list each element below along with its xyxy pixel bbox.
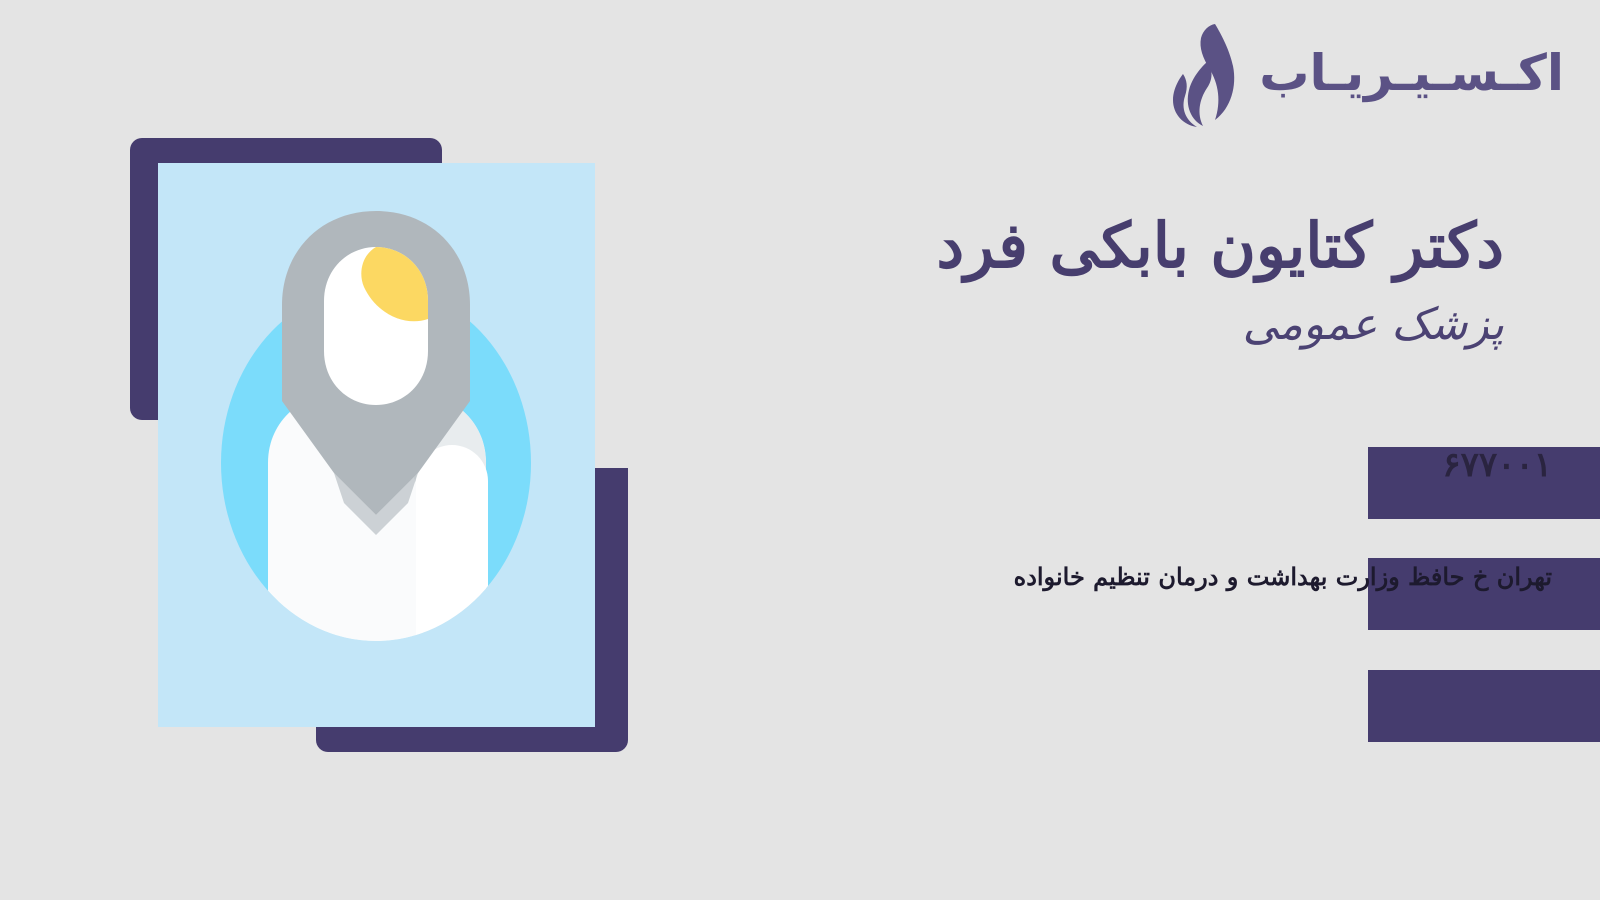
- avatar: [158, 163, 595, 727]
- doctor-info-block: دکتر کتایون بابکی فرد پزشک عمومی: [744, 210, 1504, 352]
- brand-name-label: اکـسـیـریـاب: [1259, 48, 1564, 104]
- doctor-name: دکتر کتایون بابکی فرد: [744, 210, 1504, 281]
- flame-icon: [1157, 22, 1245, 130]
- profile-card-canvas: اکـسـیـریـاب: [0, 0, 1600, 900]
- doctor-illustration: [130, 138, 630, 752]
- doctor-code: ۶۷۷۰۰۱: [1442, 445, 1552, 485]
- doctor-specialty: پزشک عمومی: [744, 299, 1504, 352]
- decorative-bar-3: [1368, 670, 1600, 742]
- doctor-address: تهران خ حافظ وزارت بهداشت و درمان تنظیم …: [1014, 560, 1552, 594]
- brand-logo[interactable]: اکـسـیـریـاب: [1157, 22, 1564, 130]
